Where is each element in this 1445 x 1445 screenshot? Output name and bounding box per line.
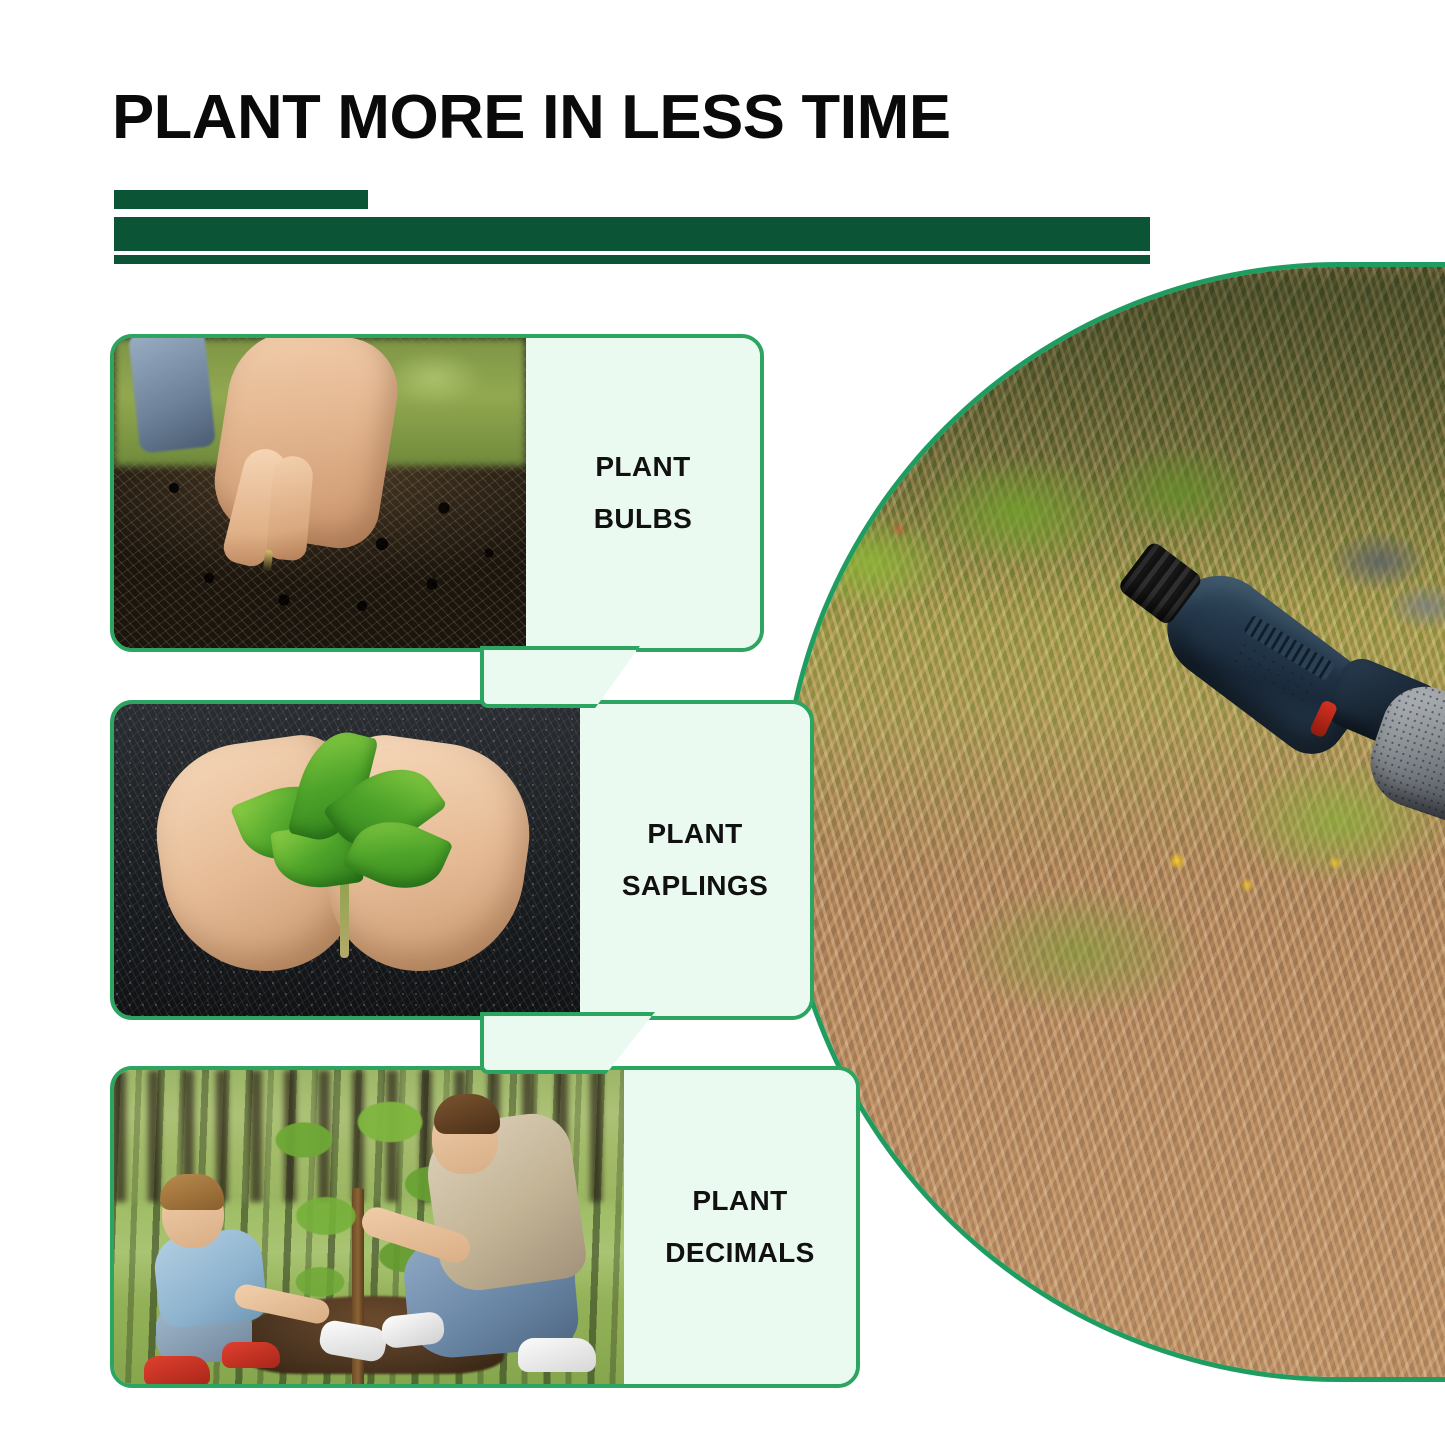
divider-bar-thick xyxy=(114,217,1150,251)
boy-hair xyxy=(160,1174,224,1210)
hero-photo-top-shade xyxy=(785,267,1445,597)
feature-photo-plant-decimals xyxy=(114,1070,624,1384)
feature-photo-plant-bulbs xyxy=(114,338,526,648)
feature-card-plant-decimals[interactable]: PLANT DECIMALS xyxy=(110,1066,860,1388)
divider-bar-short xyxy=(114,190,368,209)
shirt-sleeve xyxy=(128,338,216,454)
feature-label-line-2: BULBS xyxy=(594,503,692,535)
feature-label-line-1: PLANT xyxy=(647,818,742,850)
feature-label-plant-saplings: PLANT SAPLINGS xyxy=(580,704,810,1016)
card-connector xyxy=(480,1012,655,1074)
feature-label-line-1: PLANT xyxy=(692,1185,787,1217)
feature-photo-plant-saplings xyxy=(114,704,580,1016)
man-hair xyxy=(434,1094,500,1134)
feature-label-line-2: SAPLINGS xyxy=(622,870,768,902)
feature-label-plant-bulbs: PLANT BULBS xyxy=(526,338,760,648)
feature-card-plant-saplings[interactable]: PLANT SAPLINGS xyxy=(110,700,814,1020)
product-feature-poster: PLANT MORE IN LESS TIME xyxy=(0,0,1445,1445)
boy-shoe xyxy=(222,1342,280,1368)
page-title: PLANT MORE IN LESS TIME xyxy=(112,82,951,153)
man-shoe xyxy=(518,1338,596,1372)
card-connector xyxy=(480,646,640,708)
hero-image xyxy=(780,262,1445,1382)
boy-shoe xyxy=(144,1356,210,1384)
feature-label-line-2: DECIMALS xyxy=(665,1237,814,1269)
feature-label-line-1: PLANT xyxy=(595,451,690,483)
feature-label-plant-decimals: PLANT DECIMALS xyxy=(624,1070,856,1384)
feature-card-plant-bulbs[interactable]: PLANT BULBS xyxy=(110,334,764,652)
hero-image-frame xyxy=(780,262,1445,1382)
